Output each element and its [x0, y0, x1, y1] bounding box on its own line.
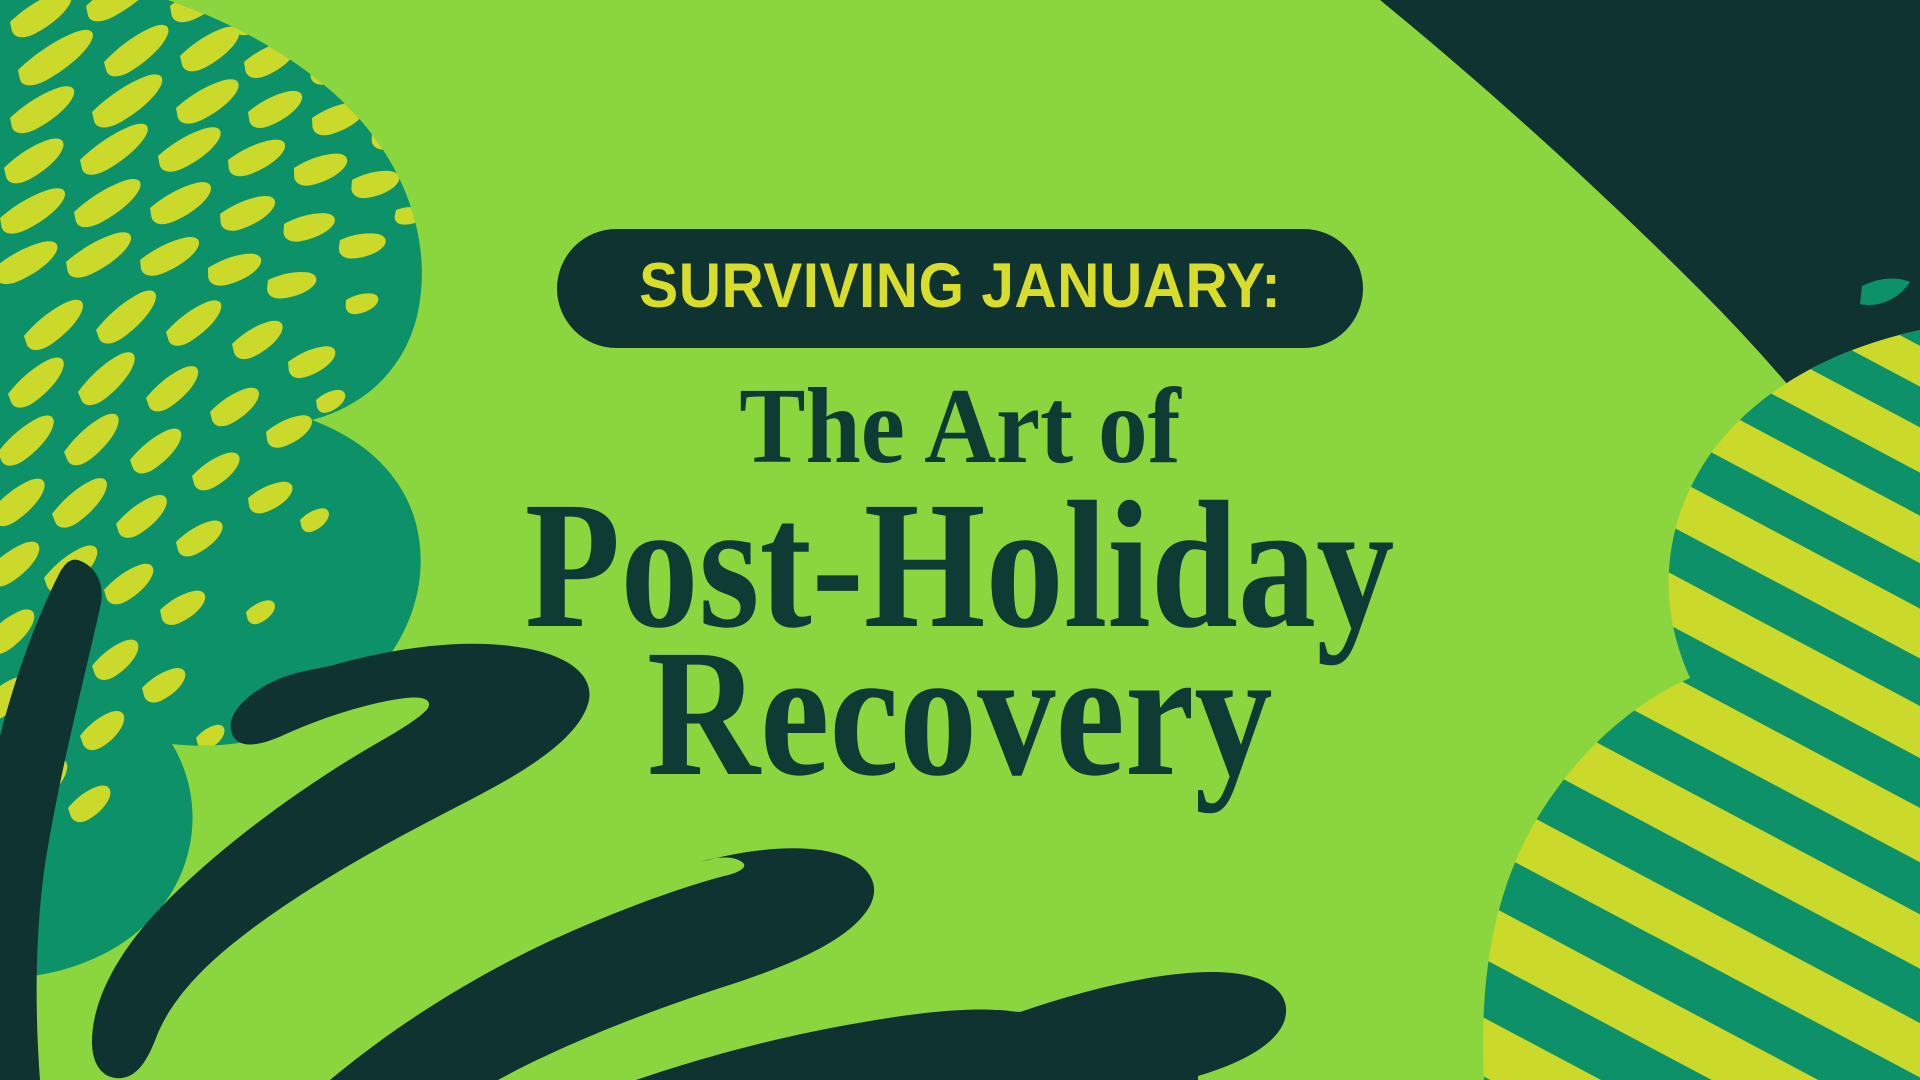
eyebrow-badge: SURVIVING JANUARY:	[557, 229, 1363, 348]
text-block: SURVIVING JANUARY: The Art of Post-Holid…	[0, 0, 1920, 1080]
eyebrow-badge-label: SURVIVING JANUARY:	[639, 255, 1281, 318]
headline-line-3: Recovery	[647, 623, 1273, 805]
poster-canvas: SURVIVING JANUARY: The Art of Post-Holid…	[0, 0, 1920, 1080]
